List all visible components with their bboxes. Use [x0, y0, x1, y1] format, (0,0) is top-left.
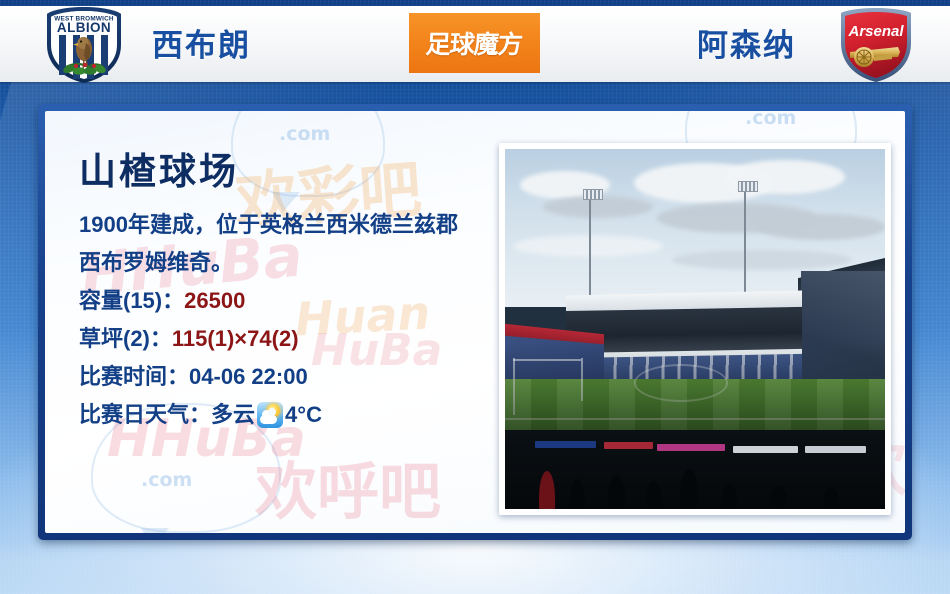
- spectator-silhouette: [608, 475, 625, 509]
- arsenal-crest: Arsenal: [834, 5, 918, 85]
- advert-board-2: [604, 442, 653, 449]
- site-logo[interactable]: 足球魔方: [409, 13, 540, 73]
- site-logo-text: 足球魔方: [425, 25, 524, 61]
- match-time-label: 比赛时间: [79, 364, 167, 389]
- stadium-photo: W B A: [505, 149, 885, 509]
- match-weather-label: 比赛日天气: [79, 396, 189, 434]
- spectator-silhouette: [646, 481, 662, 509]
- watermark-cn-2: 欢呼吧: [255, 441, 441, 531]
- spectator-silhouette: [539, 471, 555, 509]
- away-team-name: 阿森纳: [697, 26, 796, 66]
- capacity-separator: ：: [162, 288, 184, 313]
- stadium-description: 1900年建成，位于英格兰西米德兰兹郡西布罗姆维奇。: [79, 206, 479, 282]
- floodlight-head-1: [583, 189, 603, 200]
- pitch-size-row: 草坪(2)：115(1)×74(2): [79, 320, 499, 358]
- spectator-silhouette: [824, 487, 839, 509]
- bottom-glow: [0, 540, 950, 594]
- match-time-separator: ：: [167, 364, 189, 389]
- capacity-label: 容量(15): [79, 288, 162, 313]
- match-time-value: 04-06 22:00: [189, 364, 308, 389]
- floodlight-pylon-2: [744, 185, 746, 293]
- cloud-8: [672, 250, 852, 270]
- pitch-width-value: 74(2): [247, 326, 298, 351]
- capacity-value: 26500: [184, 288, 245, 313]
- watermark-com-3: .com: [141, 469, 192, 491]
- match-header: WEST BROMWICH ALBION: [0, 0, 950, 88]
- floodlight-pylon-1: [589, 192, 591, 300]
- capacity-row: 容量(15)：26500: [79, 282, 499, 320]
- advert-board-5: [805, 446, 866, 453]
- match-weather-value: 多云: [211, 396, 255, 434]
- pitch-size-separator: ：: [150, 326, 172, 351]
- match-time-row: 比赛时间：04-06 22:00: [79, 358, 499, 396]
- watermark-com-2: .com: [745, 111, 796, 129]
- advert-board-1: [535, 441, 596, 448]
- pitch-size-label: 草坪(2): [79, 326, 150, 351]
- match-weather-row: 比赛日天气：多云 4°C: [79, 396, 499, 434]
- match-weather-separator: ：: [189, 396, 211, 434]
- stadium-info-card-frame: .com .com 欢彩吧 HHuBa Huan HuBa HHuBa .com…: [38, 104, 912, 540]
- spectator-silhouette: [722, 483, 737, 509]
- foreground-stand-shadow: [505, 430, 885, 509]
- spectator-silhouette: [680, 469, 698, 509]
- floodlight-head-2: [738, 181, 758, 192]
- stadium-info-block: 山楂球场 1900年建成，位于英格兰西米德兰兹郡西布罗姆维奇。 容量(15)：2…: [79, 153, 499, 434]
- pitch-size-times: ×: [234, 326, 247, 351]
- spectator-silhouette: [771, 485, 787, 509]
- match-temperature-value: 4°C: [285, 396, 322, 434]
- pitch-length-value: 115(1): [172, 326, 234, 351]
- advert-board-3: [657, 444, 725, 451]
- crest-wordmark: Arsenal: [847, 23, 904, 40]
- watermark-com-1: .com: [279, 123, 330, 145]
- cloud-6: [756, 214, 885, 240]
- west-bromwich-albion-crest: WEST BROMWICH ALBION: [42, 5, 126, 85]
- cloud-glyph: [260, 415, 277, 424]
- spectator-silhouette: [570, 479, 585, 509]
- home-team-name: 西布朗: [152, 26, 251, 66]
- stadium-info-card: .com .com 欢彩吧 HHuBa Huan HuBa HHuBa .com…: [45, 111, 905, 533]
- stadium-photo-frame: W B A: [499, 143, 891, 515]
- page-title: 山楂球场: [79, 153, 499, 192]
- advert-board-4: [733, 446, 798, 453]
- partly-cloudy-icon: [257, 402, 283, 428]
- crest-text-main: ALBION: [57, 20, 111, 35]
- screenshot-root: WEST BROMWICH ALBION: [0, 0, 950, 594]
